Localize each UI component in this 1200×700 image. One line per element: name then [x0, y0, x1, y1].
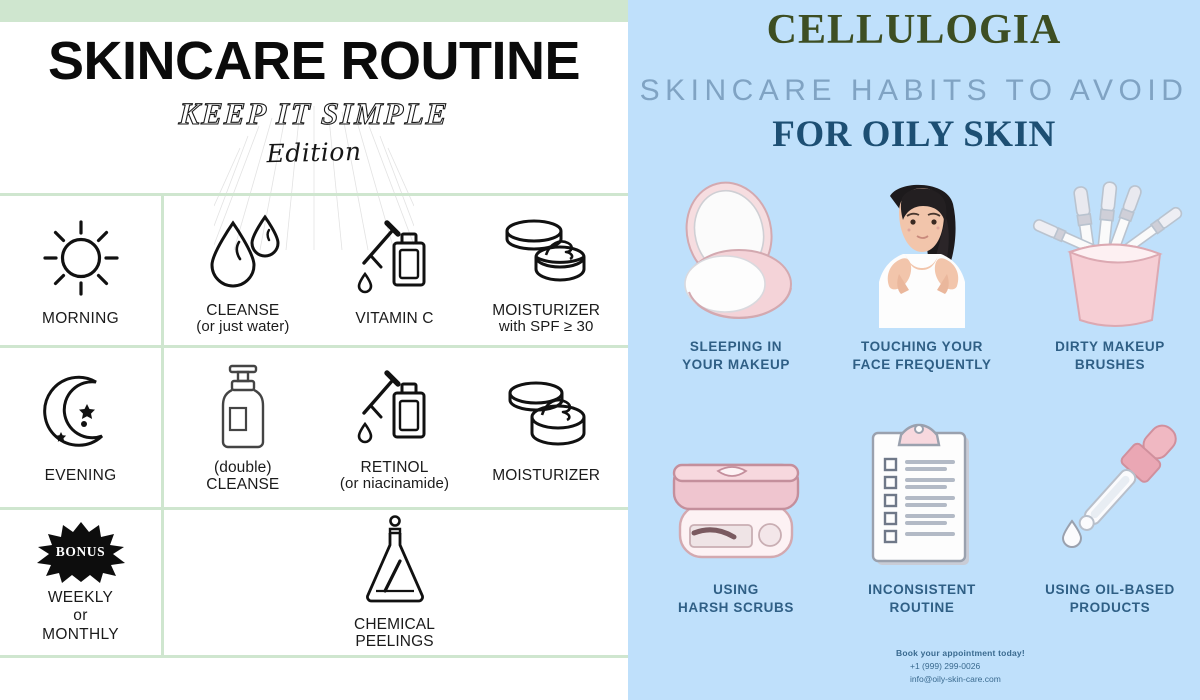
subtitle-wrapper: KEEP IT SIMPLE: [0, 98, 628, 129]
item-line-2: (or just water): [196, 319, 289, 336]
caption-line-2: PRODUCTS: [1045, 599, 1175, 617]
row-label-morning: MORNING: [0, 196, 161, 345]
row-label-line-1: WEEKLY: [42, 589, 119, 608]
habit-caption: DIRTY MAKEUP BRUSHES: [1055, 338, 1165, 374]
burst-badge-icon: BONUS: [35, 521, 127, 583]
row-label-evening: EVENING: [0, 348, 161, 507]
compact-powder-icon: [661, 180, 811, 330]
table-row: EVENING: [0, 348, 628, 507]
routine-item-label: CLEANSE (or just water): [196, 302, 289, 336]
item-line-2: with SPF ≥ 30: [492, 319, 600, 336]
routine-item: RETINOL (or niacinamide): [319, 362, 469, 493]
item-line-1: MOISTURIZER: [492, 467, 600, 484]
row-label-line-3: MONTHLY: [42, 626, 119, 645]
habit-item: USING OIL-BASED PRODUCTS: [1012, 423, 1200, 617]
caption-line-2: YOUR MAKEUP: [682, 356, 790, 374]
routine-item: VITAMIN C: [319, 213, 469, 327]
item-line-2: PEELINGS: [354, 633, 435, 650]
routine-item: (double) CLEANSE: [168, 362, 318, 494]
row-label-text: EVENING: [45, 467, 117, 486]
habit-item: INCONSISTENT ROUTINE: [824, 423, 1020, 617]
pump-bottle-icon: [210, 362, 276, 454]
row-label-text: MORNING: [42, 310, 119, 329]
routine-item: MOISTURIZER: [471, 370, 621, 484]
clipboard-checklist-icon: [857, 423, 987, 573]
scrub-jar-icon: [656, 423, 816, 573]
habit-item: USING HARSH SCRUBS: [638, 423, 834, 617]
habit-item: SLEEPING IN YOUR MAKEUP: [638, 180, 834, 374]
caption-line-1: INCONSISTENT: [868, 581, 976, 599]
row-items: (double) CLEANSE: [161, 348, 628, 507]
bonus-badge-text: BONUS: [56, 544, 106, 560]
routine-item: CLEANSE (or just water): [168, 205, 318, 336]
caption-line-2: BRUSHES: [1055, 356, 1165, 374]
table-row: BONUS WEEKLY or MONTHLY: [0, 510, 628, 655]
item-line-1: MOISTURIZER: [492, 302, 600, 319]
flask-icon: [359, 515, 431, 611]
row-items: CLEANSE (or just water): [161, 196, 628, 345]
edition-label: Edition: [0, 130, 628, 175]
woman-touching-face-icon: [847, 180, 997, 330]
moon-stars-icon: [40, 369, 122, 461]
footer-cta-text: Book your appointment today!: [896, 648, 1196, 658]
routine-item-label: (double) CLEANSE: [206, 459, 279, 494]
routine-table: MORNING: [0, 193, 628, 658]
dropper-bottle-icon: [354, 213, 434, 305]
item-line-1: CHEMICAL: [354, 616, 435, 633]
water-drops-icon: [200, 205, 286, 297]
footer-phone[interactable]: +1 (999) 299-0026: [896, 661, 1196, 671]
habits-grid: SLEEPING IN YOUR MAKEUP: [628, 180, 1200, 700]
row-label-text: WEEKLY or MONTHLY: [42, 589, 119, 645]
caption-line-2: FACE FREQUENTLY: [852, 356, 991, 374]
top-accent-band: [0, 0, 628, 22]
caption-line-1: USING: [678, 581, 794, 599]
subtitle: KEEP IT SIMPLE: [178, 98, 449, 129]
routine-item-label: CHEMICAL PEELINGS: [354, 616, 435, 651]
item-line-1: (double): [206, 459, 279, 476]
brand-title: CELLULOGIA: [628, 6, 1200, 54]
caption-line-1: TOUCHING YOUR: [852, 338, 991, 356]
oily-skin-panel: CELLULOGIA SKINCARE HABITS TO AVOID FOR …: [628, 0, 1200, 700]
item-line-1: VITAMIN C: [355, 310, 433, 327]
item-line-1: CLEANSE: [196, 302, 289, 319]
skincare-routine-panel: SKINCARE ROUTINE: [0, 0, 628, 700]
footer-email[interactable]: info@oily-skin-care.com: [896, 674, 1196, 684]
routine-item-label: RETINOL (or niacinamide): [340, 459, 449, 493]
caption-line-1: SLEEPING IN: [682, 338, 790, 356]
table-divider: [0, 655, 628, 658]
cream-jar-icon: [496, 370, 596, 462]
routine-item-label: VITAMIN C: [355, 310, 433, 327]
row-items: CHEMICAL PEELINGS: [161, 510, 628, 655]
item-line-1: RETINOL: [340, 459, 449, 476]
routine-item: CHEMICAL PEELINGS: [320, 515, 470, 651]
item-line-2: (or niacinamide): [340, 476, 449, 493]
table-row: MORNING: [0, 196, 628, 345]
routine-header: SKINCARE ROUTINE: [0, 22, 628, 193]
headline-faded: SKINCARE HABITS TO AVOID: [628, 74, 1200, 108]
habit-caption: SLEEPING IN YOUR MAKEUP: [682, 338, 790, 374]
habit-caption: INCONSISTENT ROUTINE: [868, 581, 976, 617]
left-panel-content: SKINCARE ROUTINE: [0, 22, 628, 700]
caption-line-2: ROUTINE: [868, 599, 976, 617]
cream-jar-open-icon: [496, 205, 596, 297]
row-label-line-2: or: [42, 607, 119, 626]
caption-line-1: DIRTY MAKEUP: [1055, 338, 1165, 356]
sun-icon: [42, 212, 120, 304]
screenshot-root: SKINCARE ROUTINE: [0, 0, 1200, 700]
dropper-bottle-icon: [354, 362, 434, 454]
caption-line-1: USING OIL-BASED: [1045, 581, 1175, 599]
makeup-brushes-icon: [1020, 180, 1200, 330]
habit-caption: USING HARSH SCRUBS: [678, 581, 794, 617]
headline-main: FOR OILY SKIN: [628, 113, 1200, 156]
habit-caption: TOUCHING YOUR FACE FREQUENTLY: [852, 338, 991, 374]
item-line-2: CLEANSE: [206, 476, 279, 493]
row-label-bonus: BONUS WEEKLY or MONTHLY: [0, 510, 161, 655]
footer-contact-block: Book your appointment today! +1 (999) 29…: [896, 648, 1196, 684]
pipette-dropper-icon: [1025, 423, 1195, 573]
habit-caption: USING OIL-BASED PRODUCTS: [1045, 581, 1175, 617]
routine-item-label: MOISTURIZER: [492, 467, 600, 484]
caption-line-2: HARSH SCRUBS: [678, 599, 794, 617]
habit-item: DIRTY MAKEUP BRUSHES: [1012, 180, 1200, 374]
routine-item: MOISTURIZER with SPF ≥ 30: [471, 205, 621, 336]
habit-item: TOUCHING YOUR FACE FREQUENTLY: [824, 180, 1020, 374]
routine-item-label: MOISTURIZER with SPF ≥ 30: [492, 302, 600, 336]
page-title: SKINCARE ROUTINE: [0, 34, 628, 88]
